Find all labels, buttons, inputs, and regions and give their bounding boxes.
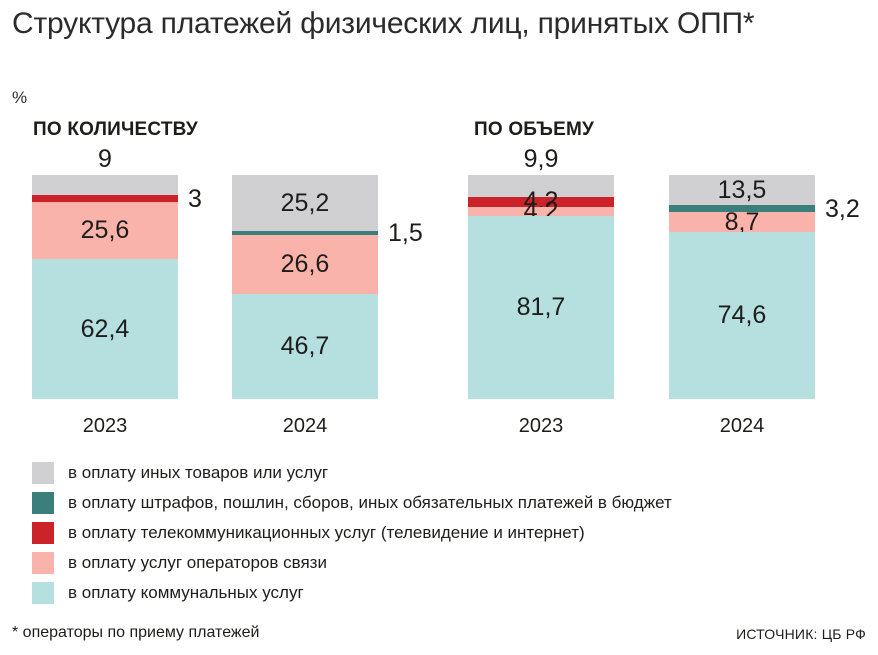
legend-label: в оплату иных товаров или услуг bbox=[68, 463, 328, 483]
source-credit: ИСТОЧНИК: ЦБ РФ bbox=[736, 626, 866, 642]
legend-swatch-utilities bbox=[32, 582, 54, 604]
segment-value-label-callout: 3,2 bbox=[825, 197, 860, 222]
footnote: * операторы по приему платежей bbox=[12, 624, 259, 642]
bar-segment-telecom[interactable] bbox=[32, 195, 178, 202]
stacked-bar[interactable]: 9325,662,4 bbox=[32, 175, 178, 399]
bar-segment-utilities[interactable] bbox=[468, 216, 614, 399]
stacked-bar[interactable]: 25,21,526,646,7 bbox=[232, 175, 378, 399]
segment-value-label-callout: 1,5 bbox=[388, 221, 423, 246]
legend-swatch-budget bbox=[32, 492, 54, 514]
bar-segment-budget[interactable] bbox=[669, 205, 815, 212]
bar-segment-other_goods[interactable] bbox=[32, 175, 178, 195]
bar-segment-mobile[interactable] bbox=[232, 235, 378, 295]
bar-group: 13,53,28,774,62024 bbox=[669, 175, 815, 450]
legend-item-budget[interactable]: в оплату штрафов, пошлин, сборов, иных о… bbox=[32, 488, 832, 518]
bar-segment-mobile[interactable] bbox=[32, 202, 178, 259]
legend-label: в оплату телекоммуникационных услуг (тел… bbox=[68, 523, 585, 543]
segment-value-label-above: 9 bbox=[32, 147, 178, 172]
legend-item-mobile[interactable]: в оплату услуг операторов связи bbox=[32, 548, 832, 578]
legend-label: в оплату коммунальных услуг bbox=[68, 583, 304, 603]
stacked-bar[interactable]: 13,53,28,774,6 bbox=[669, 175, 815, 399]
segment-value-label-callout: 3 bbox=[188, 187, 202, 212]
bar-group: 9,94,24,281,72023 bbox=[468, 175, 614, 450]
legend-swatch-mobile bbox=[32, 552, 54, 574]
bar-group: 25,21,526,646,72024 bbox=[232, 175, 378, 450]
legend-item-utilities[interactable]: в оплату коммунальных услуг bbox=[32, 578, 832, 608]
legend-item-other_goods[interactable]: в оплату иных товаров или услуг bbox=[32, 458, 832, 488]
x-axis-year-label: 2023 bbox=[468, 415, 614, 438]
x-axis-year-label: 2024 bbox=[669, 415, 815, 438]
legend-swatch-telecom bbox=[32, 522, 54, 544]
segment-value-label-above: 9,9 bbox=[468, 147, 614, 172]
bar-segment-utilities[interactable] bbox=[232, 294, 378, 399]
chart-plot-area: 9325,662,4202325,21,526,646,720249,94,24… bbox=[0, 0, 878, 450]
bar-segment-utilities[interactable] bbox=[32, 259, 178, 399]
bar-segment-mobile[interactable] bbox=[468, 207, 614, 216]
bar-segment-utilities[interactable] bbox=[669, 232, 815, 399]
bar-segment-other_goods[interactable] bbox=[232, 175, 378, 231]
bar-segment-telecom[interactable] bbox=[468, 197, 614, 206]
bar-group: 9325,662,42023 bbox=[32, 175, 178, 450]
bar-segment-other_goods[interactable] bbox=[468, 175, 614, 197]
legend-label: в оплату услуг операторов связи bbox=[68, 553, 327, 573]
x-axis-year-label: 2023 bbox=[32, 415, 178, 438]
legend-label: в оплату штрафов, пошлин, сборов, иных о… bbox=[68, 493, 672, 513]
bar-segment-mobile[interactable] bbox=[669, 212, 815, 231]
legend-swatch-other_goods bbox=[32, 462, 54, 484]
legend-item-telecom[interactable]: в оплату телекоммуникационных услуг (тел… bbox=[32, 518, 832, 548]
stacked-bar[interactable]: 9,94,24,281,7 bbox=[468, 175, 614, 399]
x-axis-year-label: 2024 bbox=[232, 415, 378, 438]
bar-segment-other_goods[interactable] bbox=[669, 175, 815, 205]
chart-legend: в оплату иных товаров или услугв оплату … bbox=[32, 458, 832, 608]
